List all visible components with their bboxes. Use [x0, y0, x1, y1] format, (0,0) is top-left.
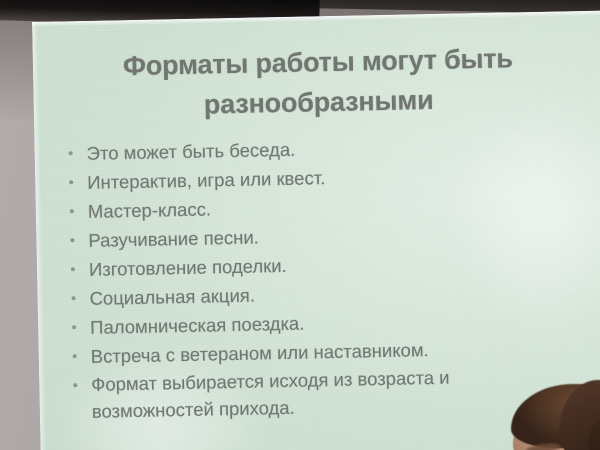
presentation-photo-scene: Форматы работы могут быть разнообразными… [0, 0, 600, 450]
slide-title: Форматы работы могут быть разнообразными [73, 37, 565, 127]
audience-member-head [505, 378, 600, 450]
